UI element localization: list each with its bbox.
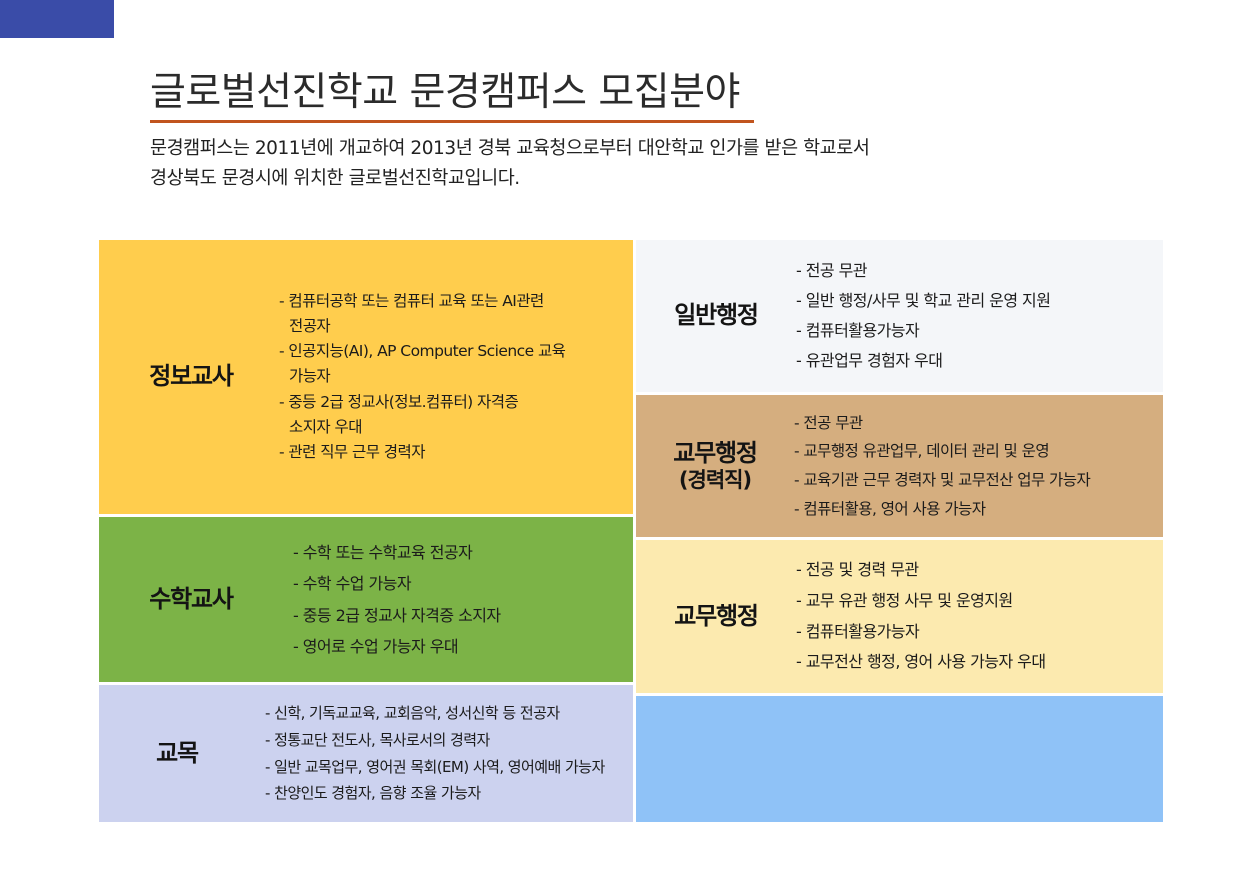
requirement-item: - 교무행정 유관업무, 데이터 관리 및 운영 [794,437,1163,466]
requirement-item: - 중등 2급 정교사 자격증 소지자 [293,600,633,631]
position-title-general-administration: 일반행정 [636,302,790,330]
requirement-item: - 전공 무관 [796,256,1163,286]
position-card-academic-administration: 교무행정 - 전공 및 경력 무관 - 교무 유관 행정 사무 및 운영지원 -… [636,540,1163,693]
requirement-item: - 교무 유관 행정 사무 및 운영지원 [796,586,1163,617]
requirement-list-chaplain: - 신학, 기독교교육, 교회음악, 성서신학 등 전공자 - 정통교단 전도사… [247,700,633,807]
page-title: 글로벌선진학교 문경캠퍼스 모집분야 [150,72,1190,120]
position-title-academic-administration-experienced: 교무행정 (경력직) [636,440,788,492]
position-title-qualifier: (경력직) [642,468,788,492]
position-title-main: 교무행정 [673,439,757,467]
requirement-list-academic-administration: - 전공 및 경력 무관 - 교무 유관 행정 사무 및 운영지원 - 컴퓨터활… [790,555,1163,678]
requirement-item: - 인공지능(AI), AP Computer Science 교육 가능자 [279,339,633,389]
requirement-list-information-teacher: - 컴퓨터공학 또는 컴퓨터 교육 또는 AI관련 전공자 - 인공지능(AI)… [275,289,633,465]
requirement-item: - 컴퓨터공학 또는 컴퓨터 교육 또는 AI관련 전공자 [279,289,633,339]
requirement-item: - 수학 또는 수학교육 전공자 [293,537,633,568]
requirement-text: - 관련 직무 근무 경력자 [279,443,425,461]
requirement-item: - 일반 행정/사무 및 학교 관리 운영 지원 [796,286,1163,316]
position-card-empty-placeholder [636,696,1163,822]
position-card-chaplain: 교목 - 신학, 기독교교육, 교회음악, 성서신학 등 전공자 - 정통교단 … [99,685,633,822]
position-title-math-teacher: 수학교사 [99,586,275,614]
position-card-academic-administration-experienced: 교무행정 (경력직) - 전공 무관 - 교무행정 유관업무, 데이터 관리 및… [636,395,1163,537]
page-header: 글로벌선진학교 문경캠퍼스 모집분야 문경캠퍼스는 2011년에 개교하여 20… [150,72,1190,194]
requirement-item: - 전공 무관 [794,409,1163,438]
title-underline-rule [150,120,754,123]
requirement-list-general-administration: - 전공 무관 - 일반 행정/사무 및 학교 관리 운영 지원 - 컴퓨터활용… [790,256,1163,376]
requirement-item: - 컴퓨터활용가능자 [796,316,1163,346]
position-title-information-teacher: 정보교사 [99,363,275,391]
positions-column-left: 정보교사 - 컴퓨터공학 또는 컴퓨터 교육 또는 AI관련 전공자 - 인공지… [99,240,633,822]
position-card-math-teacher: 수학교사 - 수학 또는 수학교육 전공자 - 수학 수업 가능자 - 중등 2… [99,517,633,682]
requirement-item: - 전공 및 경력 무관 [796,555,1163,586]
position-card-information-teacher: 정보교사 - 컴퓨터공학 또는 컴퓨터 교육 또는 AI관련 전공자 - 인공지… [99,240,633,514]
requirement-item: - 신학, 기독교교육, 교회음악, 성서신학 등 전공자 [265,700,633,727]
requirement-item: - 컴퓨터활용, 영어 사용 가능자 [794,495,1163,524]
requirement-item: - 교육기관 근무 경력자 및 교무전산 업무 가능자 [794,466,1163,495]
requirement-item: - 유관업무 경험자 우대 [796,346,1163,376]
requirement-continuation: 전공자 [279,314,633,339]
requirement-item: - 컴퓨터활용가능자 [796,617,1163,648]
positions-column-right: 일반행정 - 전공 무관 - 일반 행정/사무 및 학교 관리 운영 지원 - … [636,240,1163,822]
requirement-continuation: 가능자 [279,364,633,389]
requirement-text: - 컴퓨터공학 또는 컴퓨터 교육 또는 AI관련 [279,292,544,310]
requirement-item: - 수학 수업 가능자 [293,568,633,599]
requirement-item: - 정통교단 전도사, 목사로서의 경력자 [265,727,633,754]
page-subtitle-line-1: 문경캠퍼스는 2011년에 개교하여 2013년 경북 교육청으로부터 대안학교… [150,134,1190,164]
page-subtitle-line-2: 경상북도 문경시에 위치한 글로벌선진학교입니다. [150,164,1190,194]
requirement-item: - 관련 직무 근무 경력자 [279,440,633,465]
requirement-item: - 교무전산 행정, 영어 사용 가능자 우대 [796,647,1163,678]
corner-accent-block [0,0,114,38]
requirement-text: - 인공지능(AI), AP Computer Science 교육 [279,342,565,360]
position-title-academic-administration: 교무행정 [636,603,790,631]
requirement-continuation: 소지자 우대 [279,415,633,440]
requirement-item: - 영어로 수업 가능자 우대 [293,631,633,662]
requirement-item: - 중등 2급 정교사(정보.컴퓨터) 자격증 소지자 우대 [279,390,633,440]
position-card-general-administration: 일반행정 - 전공 무관 - 일반 행정/사무 및 학교 관리 운영 지원 - … [636,240,1163,392]
position-title-chaplain: 교목 [99,740,247,768]
requirement-item: - 찬양인도 경험자, 음향 조율 가능자 [265,780,633,807]
requirement-item: - 일반 교목업무, 영어권 목회(EM) 사역, 영어예배 가능자 [265,754,633,781]
requirement-list-math-teacher: - 수학 또는 수학교육 전공자 - 수학 수업 가능자 - 중등 2급 정교사… [275,537,633,662]
requirement-text: - 중등 2급 정교사(정보.컴퓨터) 자격증 [279,393,518,411]
positions-matrix: 정보교사 - 컴퓨터공학 또는 컴퓨터 교육 또는 AI관련 전공자 - 인공지… [99,240,1163,822]
requirement-list-academic-administration-experienced: - 전공 무관 - 교무행정 유관업무, 데이터 관리 및 운영 - 교육기관 … [788,409,1163,524]
